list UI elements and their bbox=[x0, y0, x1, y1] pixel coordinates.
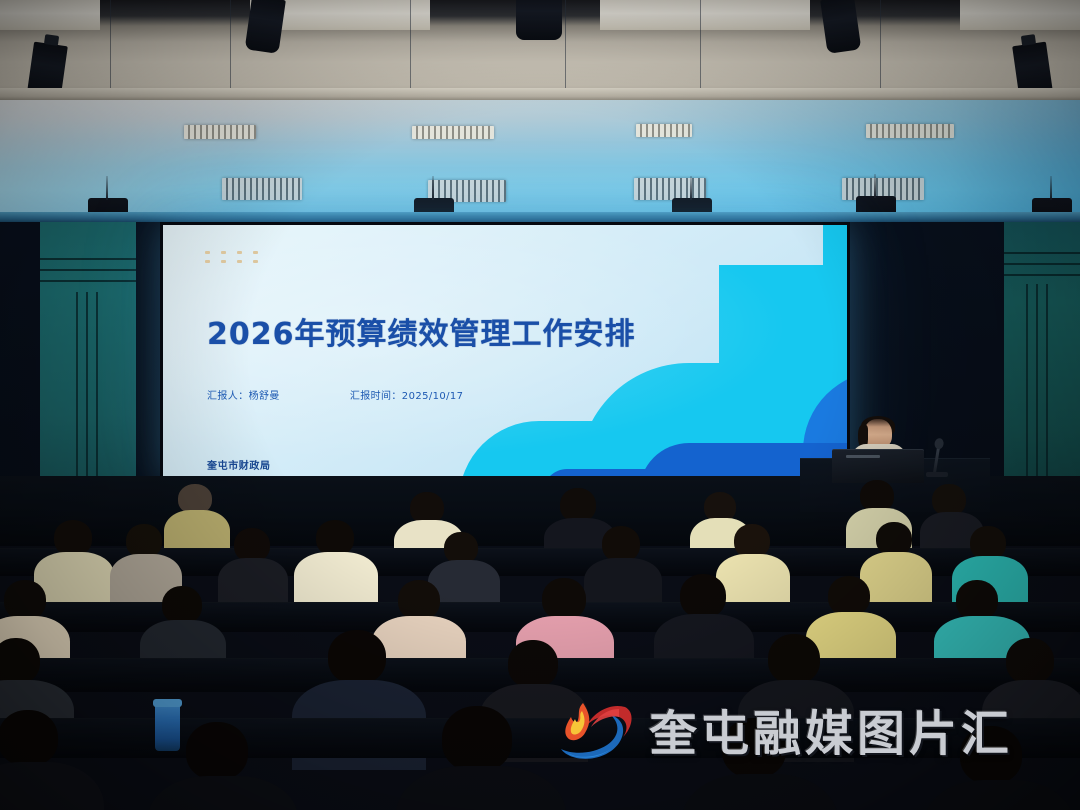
slide-organization: 奎屯市财政局 bbox=[207, 457, 271, 472]
dot bbox=[221, 260, 226, 263]
person-head bbox=[542, 578, 586, 620]
dot bbox=[205, 260, 210, 263]
person-head bbox=[970, 526, 1006, 560]
person-head bbox=[398, 580, 440, 620]
person-head bbox=[316, 520, 354, 556]
person-head bbox=[602, 526, 640, 562]
person-head bbox=[0, 710, 58, 766]
flame-swirl-logo-icon bbox=[553, 693, 637, 765]
projection-screen: 2026年预算绩效管理工作安排 汇报人：杨舒曼 汇报时间：2025/10/17 … bbox=[160, 222, 850, 482]
slide-datetime: 汇报时间：2025/10/17 bbox=[350, 387, 464, 402]
conference-photo: 2026年预算绩效管理工作安排 汇报人：杨舒曼 汇报时间：2025/10/17 … bbox=[0, 0, 1080, 810]
ceiling-vent bbox=[866, 124, 954, 138]
dot bbox=[221, 251, 226, 254]
person-head bbox=[956, 580, 998, 620]
person-head bbox=[328, 630, 386, 684]
dot bbox=[253, 260, 258, 263]
person-body bbox=[396, 766, 566, 810]
person-head bbox=[828, 576, 870, 616]
dot bbox=[237, 251, 242, 254]
person-head bbox=[234, 528, 270, 562]
person-body bbox=[0, 762, 104, 810]
ceiling-vent bbox=[636, 124, 692, 137]
person-body bbox=[148, 776, 298, 810]
person-head bbox=[1006, 638, 1054, 684]
ceiling-recess-3 bbox=[600, 0, 810, 30]
dot bbox=[237, 260, 242, 263]
person-head bbox=[734, 524, 770, 558]
person-body bbox=[924, 780, 1074, 810]
dot bbox=[253, 251, 258, 254]
ceiling-recess-1 bbox=[0, 0, 100, 30]
ceiling-vent bbox=[412, 126, 494, 139]
person-head bbox=[54, 520, 92, 556]
person-head bbox=[768, 634, 820, 684]
ceiling-slab bbox=[0, 100, 1080, 222]
ceiling-vent bbox=[222, 178, 302, 200]
blue-cup bbox=[155, 703, 180, 751]
person-head bbox=[186, 722, 248, 780]
ceiling-speaker bbox=[516, 0, 562, 40]
watermark: 奎屯融媒图片汇 bbox=[553, 693, 1013, 765]
watermark-text: 奎屯融媒图片汇 bbox=[649, 694, 1013, 764]
person-head bbox=[162, 586, 202, 624]
person-head bbox=[876, 522, 912, 556]
ceiling-vent bbox=[634, 178, 706, 200]
ceiling-vent bbox=[184, 125, 256, 139]
person-head bbox=[508, 640, 558, 688]
ceiling-speaker bbox=[820, 0, 861, 54]
person-body bbox=[34, 552, 114, 608]
person-body bbox=[860, 552, 932, 608]
person-head bbox=[0, 638, 40, 684]
person-head bbox=[4, 580, 46, 620]
person-head bbox=[442, 706, 512, 772]
slide-presenter: 汇报人：杨舒曼 bbox=[207, 387, 280, 402]
person-body bbox=[682, 774, 838, 810]
person-head bbox=[126, 524, 162, 558]
slide-meta-row: 汇报人：杨舒曼 汇报时间：2025/10/17 bbox=[207, 387, 463, 402]
ceiling-recess-4 bbox=[960, 0, 1080, 30]
slide-decorative-dots bbox=[205, 251, 269, 269]
slide-title: 2026年预算绩效管理工作安排 bbox=[207, 309, 636, 353]
presentation-slide: 2026年预算绩效管理工作安排 汇报人：杨舒曼 汇报时间：2025/10/17 … bbox=[163, 225, 847, 479]
person-head bbox=[560, 488, 596, 522]
person-head bbox=[680, 574, 726, 618]
dot bbox=[205, 251, 210, 254]
